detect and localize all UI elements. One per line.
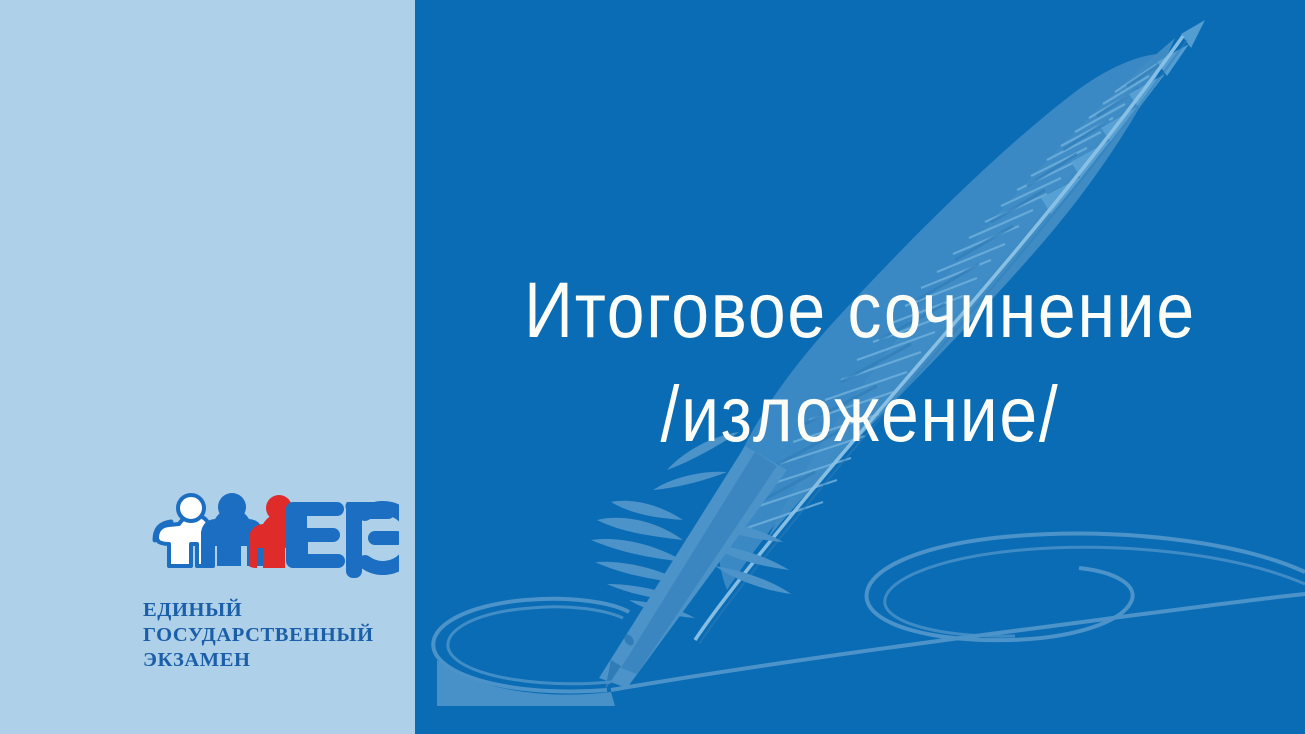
slide-title: Итоговое сочинение /изложение/ xyxy=(415,258,1305,466)
caption-line-3: ЭКЗАМЕН xyxy=(143,648,399,673)
ege-logo-caption: ЕДИНЫЙ ГОСУДАРСТВЕННЫЙ ЭКЗАМЕН xyxy=(143,598,399,673)
ege-logo: ЕДИНЫЙ ГОСУДАРСТВЕННЫЙ ЭКЗАМЕН xyxy=(143,492,399,673)
logo-figures-group xyxy=(155,493,308,568)
ink-swirl-flourish xyxy=(433,534,1305,706)
caption-line-2: ГОСУДАРСТВЕННЫЙ xyxy=(143,623,399,648)
ege-logo-mark xyxy=(143,492,399,584)
title-line-1: Итоговое сочинение xyxy=(477,258,1242,362)
title-line-2: /изложение/ xyxy=(477,362,1242,466)
left-panel: ЕДИНЫЙ ГОСУДАРСТВЕННЫЙ ЭКЗАМЕН xyxy=(0,0,415,734)
quill-nib xyxy=(599,446,787,690)
caption-line-1: ЕДИНЫЙ xyxy=(143,598,399,623)
feather-outer-barbs xyxy=(1041,20,1205,214)
right-panel: Итоговое сочинение /изложение/ xyxy=(415,0,1305,734)
slide-root: ЕДИНЫЙ ГОСУДАРСТВЕННЫЙ ЭКЗАМЕН xyxy=(0,0,1305,734)
